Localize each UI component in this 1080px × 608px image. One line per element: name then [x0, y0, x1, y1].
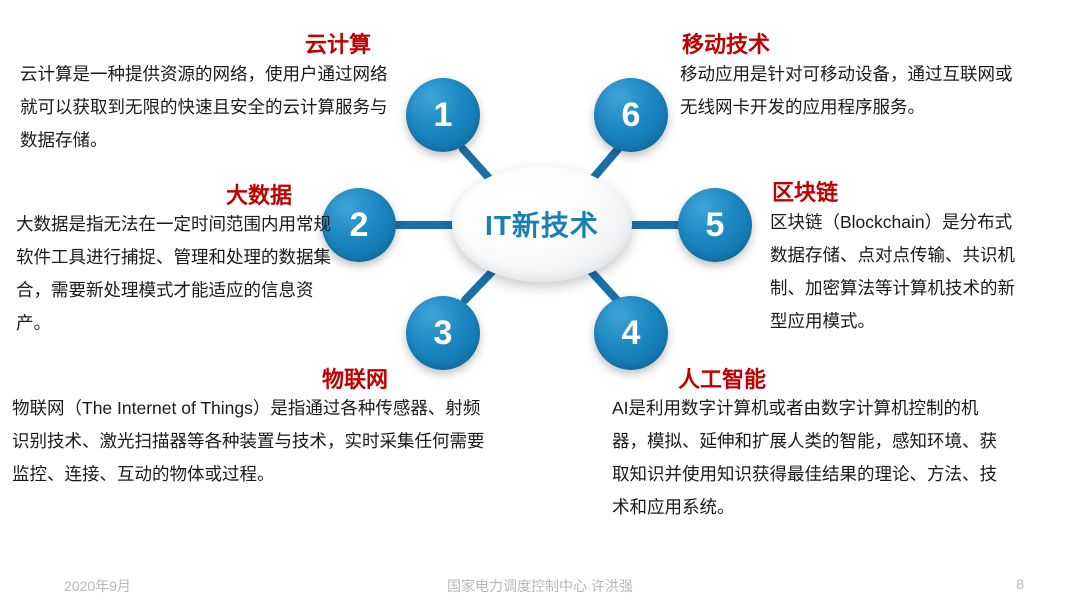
heading-mobile: 移动技术 — [682, 27, 770, 59]
slide-canvas: IT新技术 1 2 3 4 5 6 云计算 大数据 物联网 移动技术 区块链 人… — [0, 0, 1080, 608]
center-hub-label: IT新技术 — [485, 204, 599, 244]
node-6-number: 6 — [622, 96, 641, 135]
heading-cloud: 云计算 — [305, 27, 371, 59]
node-2-bigdata[interactable]: 2 — [322, 188, 396, 262]
node-3-iot[interactable]: 3 — [406, 296, 480, 370]
node-4-ai[interactable]: 4 — [594, 296, 668, 370]
node-5-blockchain[interactable]: 5 — [678, 188, 752, 262]
body-cloud: 云计算是一种提供资源的网络，使用户通过网络就可以获取到无限的快速且安全的云计算服… — [20, 58, 400, 157]
body-ai: AI是利用数字计算机或者由数字计算机控制的机器，模拟、延伸和扩展人类的智能，感知… — [612, 392, 1012, 524]
node-1-number: 1 — [434, 96, 453, 135]
node-3-number: 3 — [434, 314, 453, 353]
body-blockchain: 区块链（Blockchain）是分布式数据存储、点对点传输、共识机制、加密算法等… — [770, 206, 1020, 338]
node-4-number: 4 — [622, 314, 641, 353]
body-mobile: 移动应用是针对可移动设备，通过互联网或无线网卡开发的应用程序服务。 — [680, 58, 1020, 124]
body-bigdata: 大数据是指无法在一定时间范围内用常规软件工具进行捕捉、管理和处理的数据集合，需要… — [16, 208, 332, 340]
node-1-cloud[interactable]: 1 — [406, 78, 480, 152]
heading-iot: 物联网 — [322, 362, 388, 394]
node-2-number: 2 — [350, 206, 369, 245]
slide-footer: 2020年9月 国家电力调度控制中心 许洪强 8 — [0, 568, 1080, 608]
heading-ai: 人工智能 — [678, 362, 766, 394]
node-5-number: 5 — [706, 206, 725, 245]
footer-center-text: 国家电力调度控制中心 许洪强 — [0, 576, 1080, 596]
heading-blockchain: 区块链 — [772, 175, 838, 207]
center-hub: IT新技术 — [452, 166, 632, 282]
node-6-mobile[interactable]: 6 — [594, 78, 668, 152]
heading-bigdata: 大数据 — [226, 178, 292, 210]
body-iot: 物联网（The Internet of Things）是指通过各种传感器、射频识… — [12, 392, 492, 491]
footer-page-number: 8 — [1016, 576, 1024, 592]
